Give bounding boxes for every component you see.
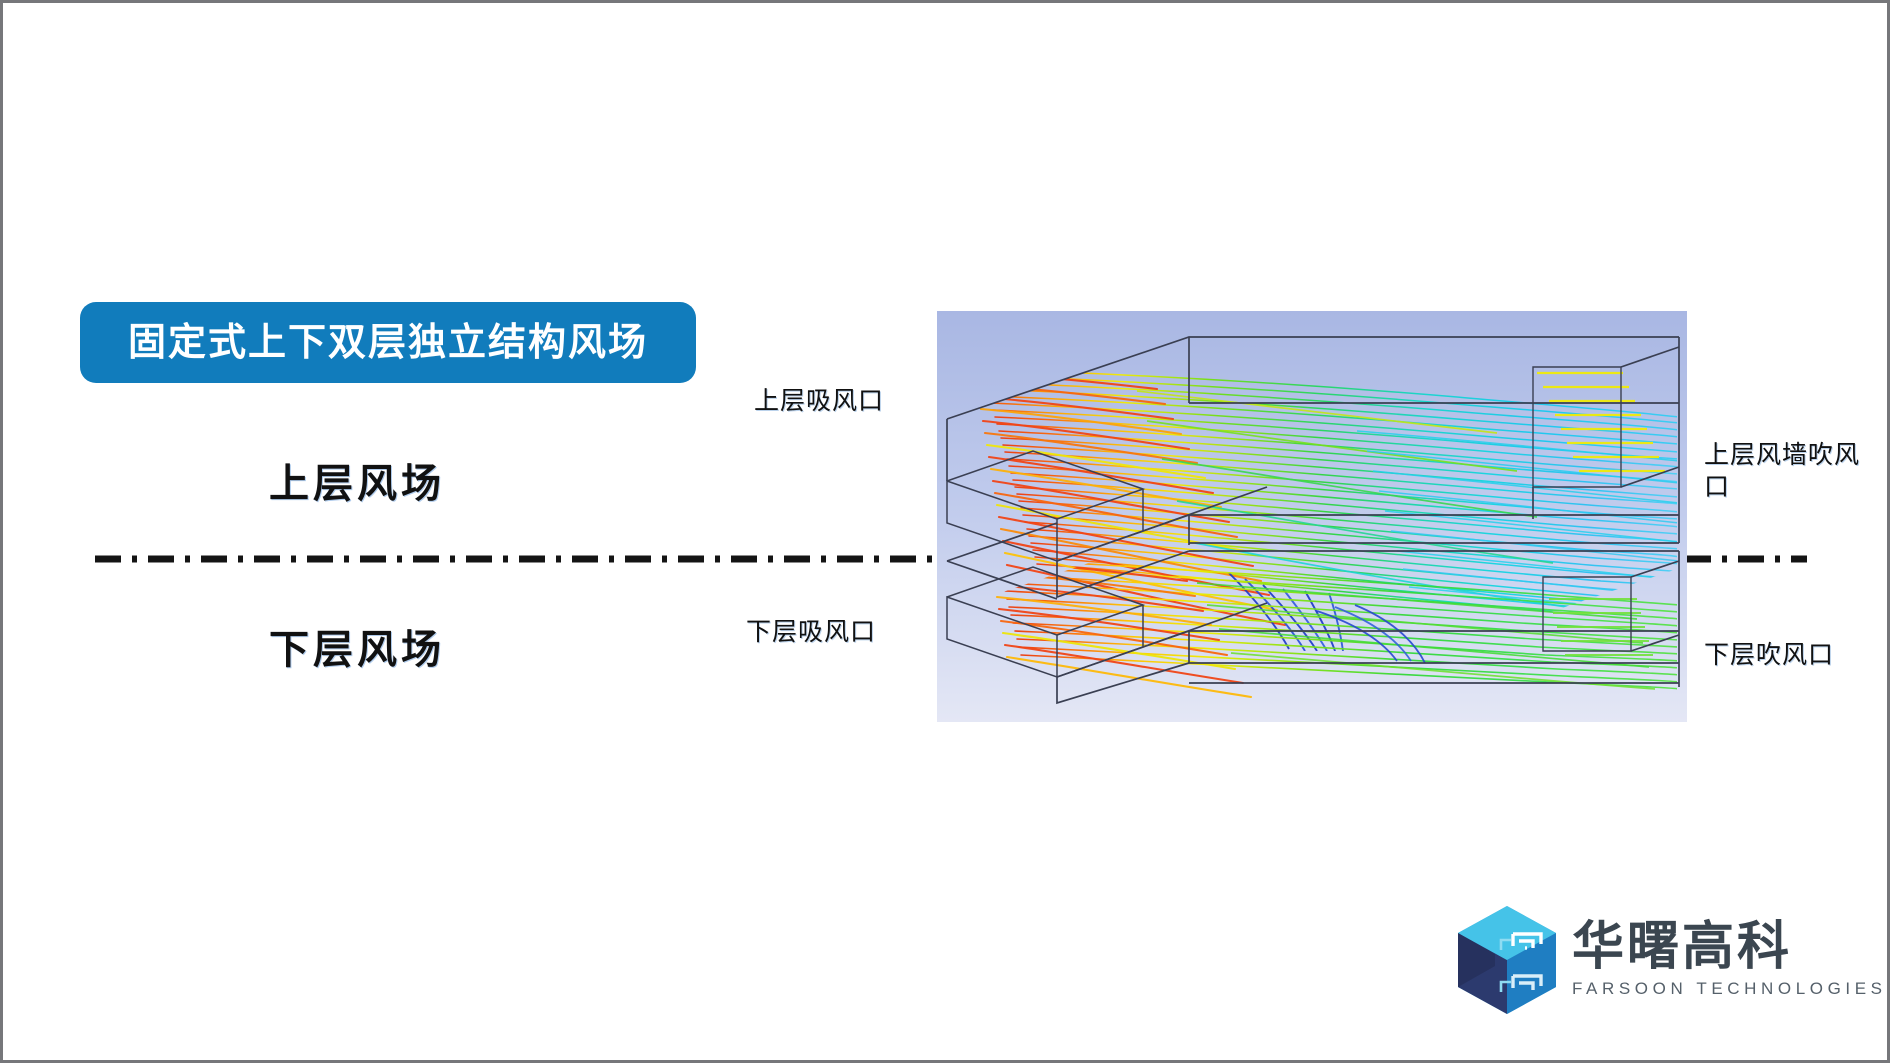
annotation-upper-outlet: 上层风墙吹风口 bbox=[1704, 439, 1879, 503]
annotation-upper-inlet: 上层吸风口 bbox=[754, 385, 884, 417]
company-logo: 华曙高科 FARSOON TECHNOLOGIES bbox=[1455, 901, 1825, 1019]
annotation-lower-inlet: 下层吸风口 bbox=[746, 616, 876, 648]
cfd-simulation-figure bbox=[937, 311, 1687, 722]
caption-upper-layer: 上层风场 bbox=[269, 451, 445, 509]
page-title: 固定式上下双层独立结构风场 bbox=[128, 324, 648, 362]
logo-chinese-name: 华曙高科 bbox=[1572, 921, 1887, 974]
title-banner: 固定式上下双层独立结构风场 bbox=[80, 302, 696, 383]
farsoon-cube-icon bbox=[1455, 904, 1560, 1016]
slide-canvas: 固定式上下双层独立结构风场 上层风场 下层风场 bbox=[0, 0, 1890, 1063]
annotation-lower-outlet: 下层吹风口 bbox=[1704, 639, 1834, 671]
logo-english-name: FARSOON TECHNOLOGIES bbox=[1572, 979, 1887, 999]
caption-lower-layer: 下层风场 bbox=[269, 617, 445, 675]
logo-wordmark: 华曙高科 FARSOON TECHNOLOGIES bbox=[1572, 921, 1887, 998]
